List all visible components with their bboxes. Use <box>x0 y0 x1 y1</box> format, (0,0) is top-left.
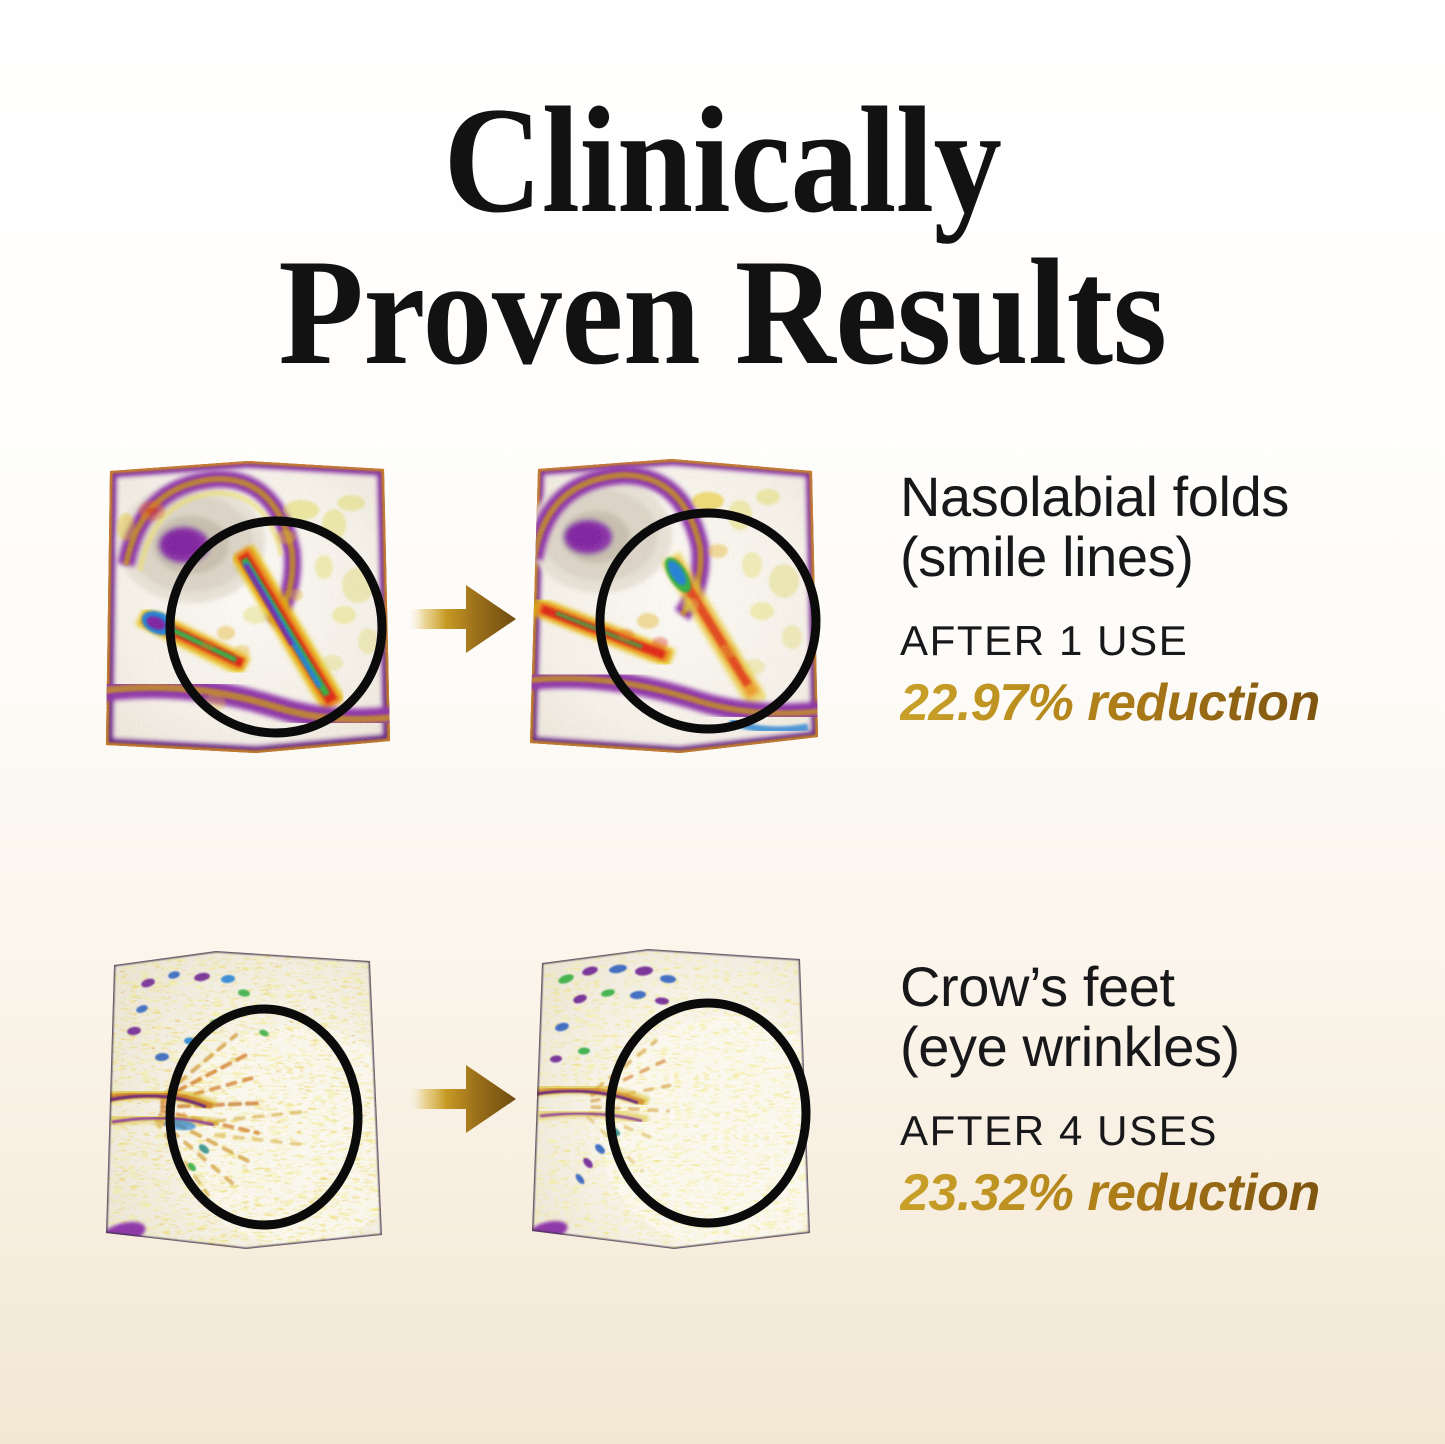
after-label: AFTER 4 USES <box>900 1107 1400 1155</box>
reduction-value: 23.32% reduction <box>900 1163 1320 1223</box>
result-text-crows-feet: Crow’s feet (eye wrinkles) AFTER 4 USES … <box>900 957 1400 1223</box>
arrow-right-icon-nasolabial <box>408 573 518 665</box>
scan-before-crows-feet <box>96 935 396 1255</box>
reduction-value: 22.97% reduction <box>900 673 1320 733</box>
page-title: Clinically Proven Results <box>0 88 1445 385</box>
result-row-crows-feet: Crow’s feet (eye wrinkles) AFTER 4 USES … <box>0 935 1445 1265</box>
scan-before-nasolabial-folds <box>96 455 396 760</box>
result-text-nasolabial-folds: Nasolabial folds (smile lines) AFTER 1 U… <box>900 467 1400 733</box>
condition-name: Crow’s feet (eye wrinkles) <box>900 957 1400 1077</box>
scan-after-crows-feet <box>522 935 822 1255</box>
scan-after-nasolabial-folds <box>522 455 822 760</box>
after-label: AFTER 1 USE <box>900 617 1400 665</box>
result-row-nasolabial-folds: Nasolabial folds (smile lines) AFTER 1 U… <box>0 455 1445 785</box>
condition-name: Nasolabial folds (smile lines) <box>900 467 1400 587</box>
page-title-line-1: Clinically <box>72 88 1373 232</box>
arrow-right-icon-crows-feet <box>408 1053 518 1145</box>
page-title-line-2: Proven Results <box>58 240 1387 384</box>
